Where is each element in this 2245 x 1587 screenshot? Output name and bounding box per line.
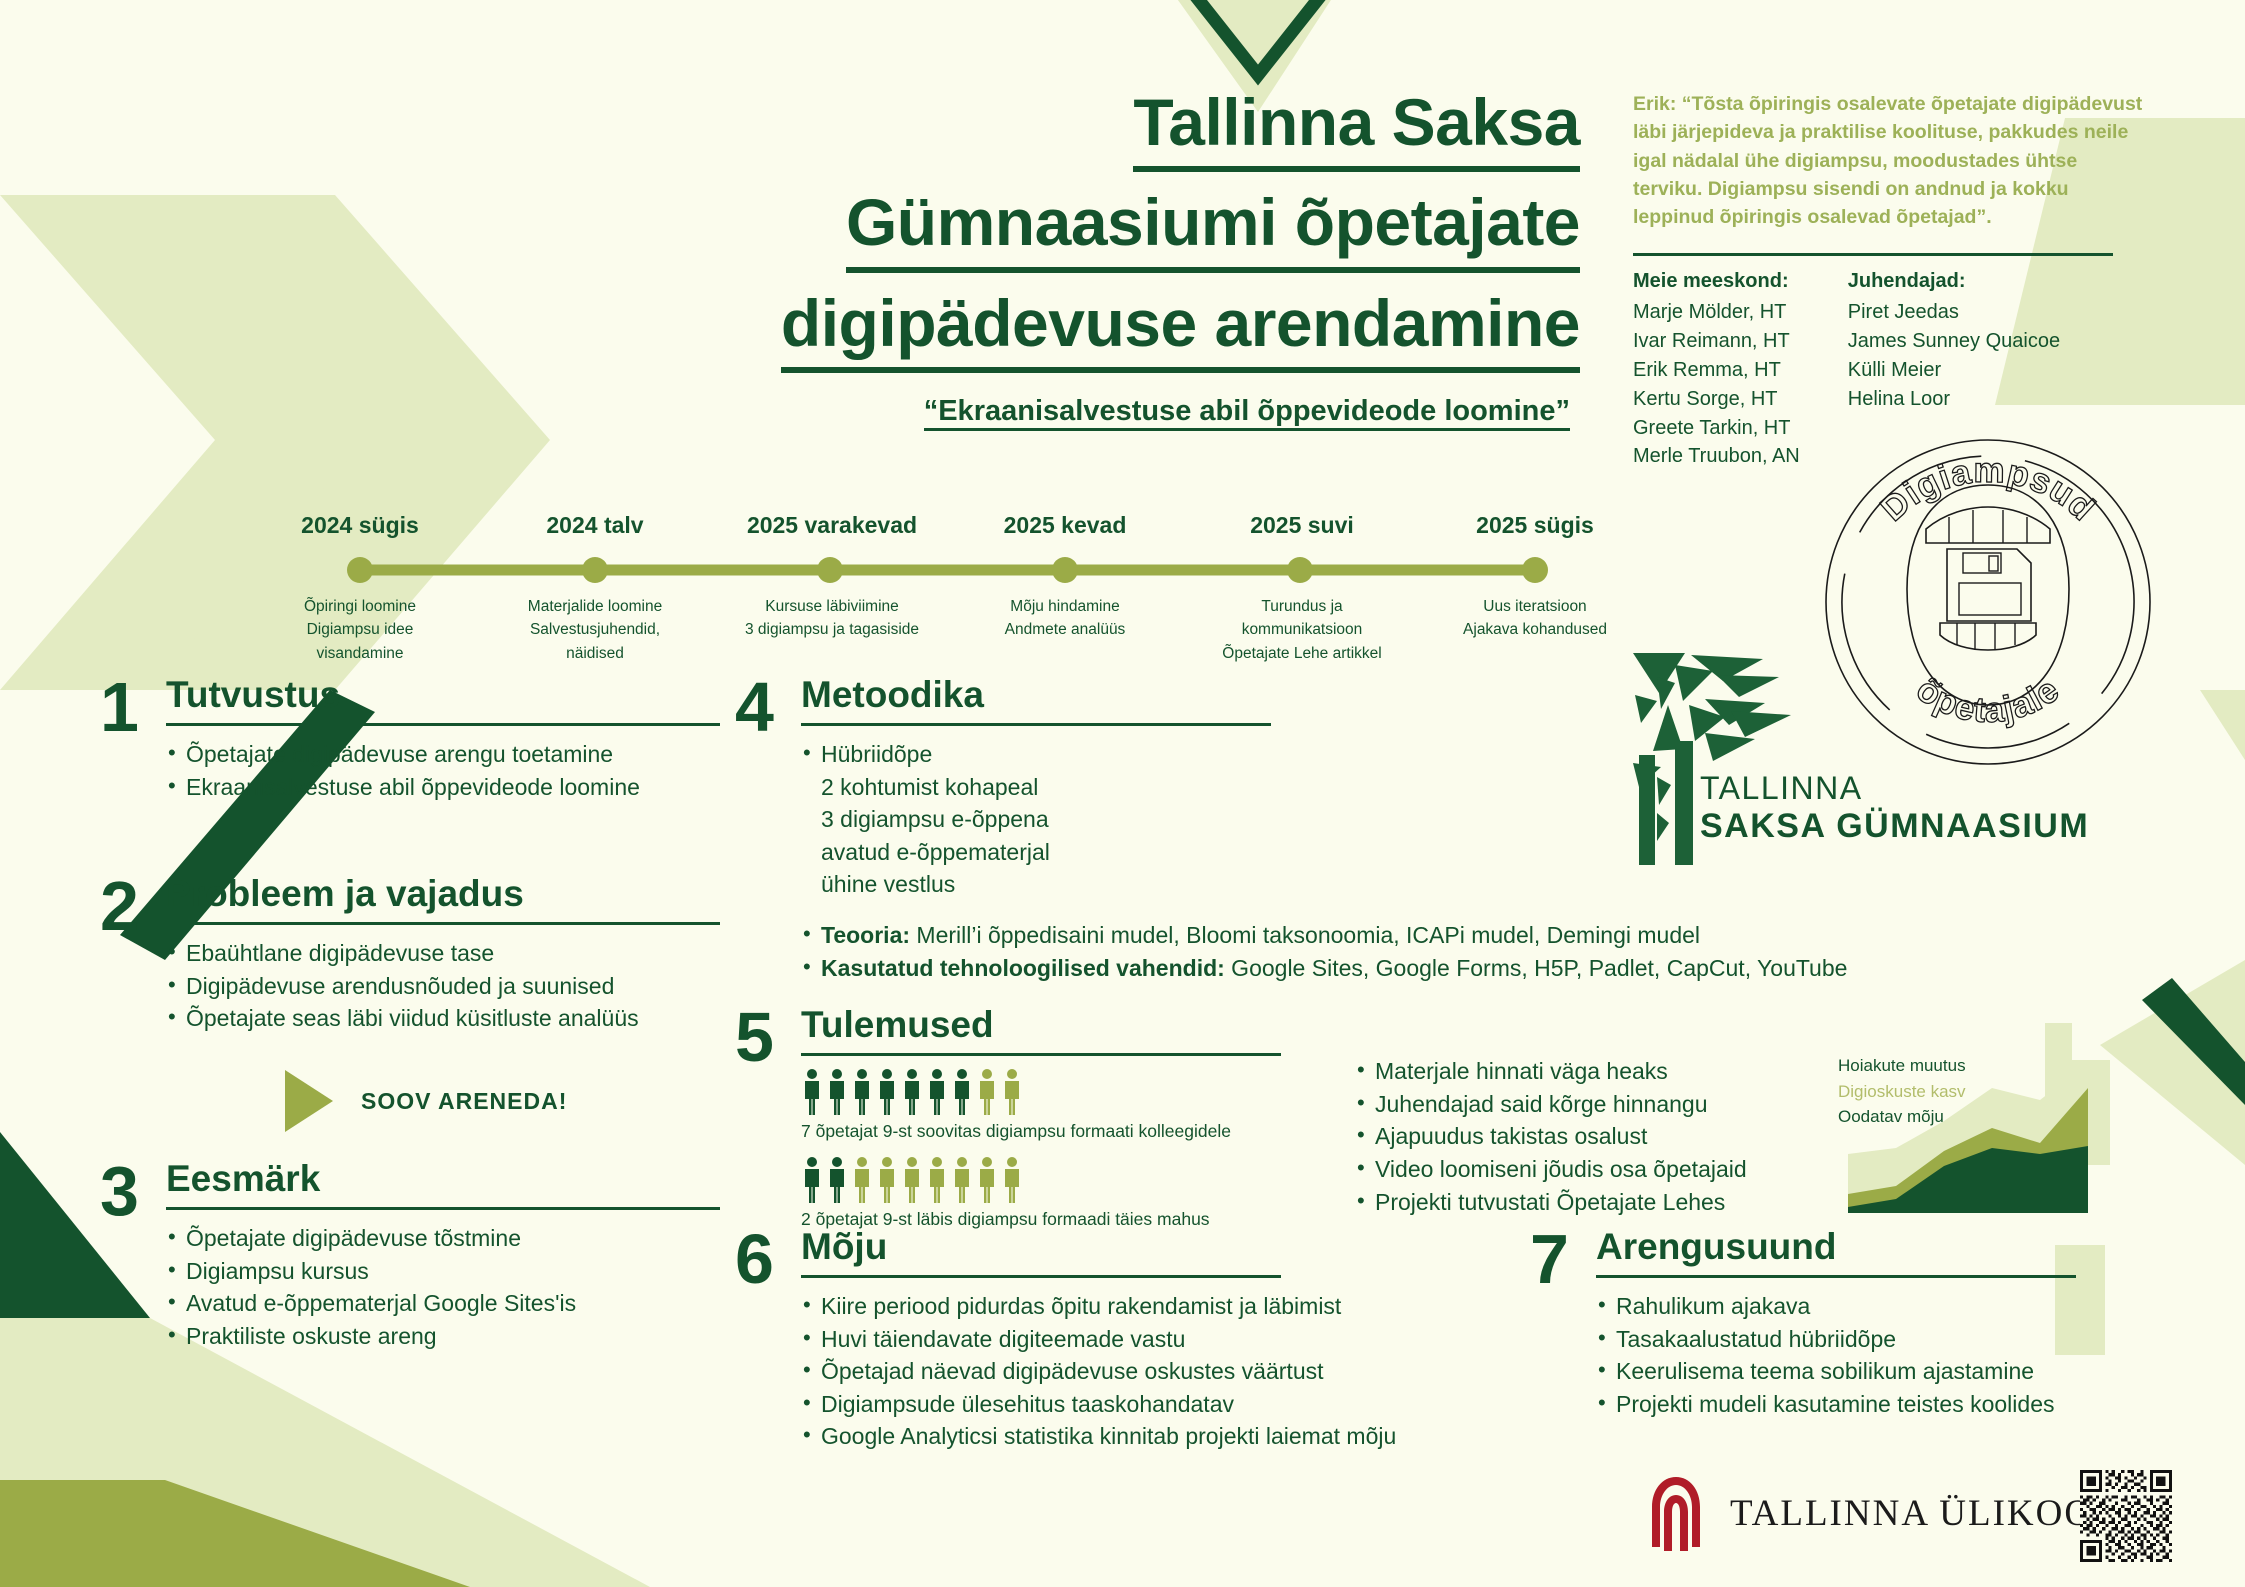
team-column: Meie meeskond: Marje Mölder, HT Ivar Rei…: [1633, 270, 1800, 471]
section-arengusuund: 7 Arengusuund Rahulikum ajakava Tasakaal…: [1530, 1228, 2090, 1420]
list-item: Projekti tutvustati Õpetajate Lehes: [1355, 1186, 1825, 1219]
team-divider: [1633, 253, 2113, 256]
list-item: Juhendajad said kõrge hinnangu: [1355, 1088, 1825, 1121]
timeline-period: 2025 sügis: [1430, 512, 1640, 539]
title-line-3: digipädevuse arendamine: [781, 281, 1580, 373]
timeline-stop: 2025 varakevad Kursuse läbiviimine 3 dig…: [718, 512, 946, 642]
supervisors-heading: Juhendajad:: [1848, 270, 2060, 293]
section-probleem-ja-vajadus: 2 Probleem ja vajadus Ebaühtlane digipäd…: [100, 875, 720, 1035]
list-item: Õpetajad näevad digipädevuse oskustes vä…: [801, 1355, 1435, 1388]
university-logo: TALLINNA ÜLIKOOL: [1648, 1475, 2118, 1551]
person-icon-empty: [976, 1156, 998, 1204]
supervisor-name: James Sunney Quaicoe: [1848, 327, 2060, 356]
team-heading: Meie meeskond:: [1633, 270, 1800, 293]
section-tulemused-bullets: Materjale hinnati väga heaks Juhendajad …: [1355, 1055, 1825, 1218]
list-item: Google Analyticsi statistika kinnitab pr…: [801, 1420, 1435, 1453]
section-divider: [166, 922, 720, 925]
badge-top-text: Digiampsud: [1873, 451, 2102, 529]
section-eesmark: 3 Eesmärk Õpetajate digipädevuse tõstmin…: [100, 1160, 720, 1352]
pictogram-row-completed: [801, 1156, 1375, 1204]
list-item: Digipädevuse arendusnõuded ja suunised: [166, 970, 720, 1003]
section-divider: [801, 1275, 1281, 1278]
page-subtitle: “Ekraanisalvestuse abil õppevideode loom…: [924, 395, 1570, 431]
timeline-period: 2025 suvi: [1188, 512, 1416, 539]
section-divider: [801, 1053, 1281, 1056]
list-item: Keerulisema teema sobilikum ajastamine: [1596, 1355, 2090, 1388]
title-line-1: Tallinna Saksa: [1133, 80, 1580, 172]
timeline-item: Õpiringi loomine: [255, 595, 465, 618]
section-title: Tutvustus: [166, 676, 720, 715]
timeline-item: näidised: [490, 642, 700, 665]
svg-text:Digiampsud: Digiampsud: [1873, 451, 2102, 529]
timeline-item: Materjalide loomine: [490, 595, 700, 618]
timeline-item: Turundus ja: [1188, 595, 1416, 618]
timeline-item: Ajakava kohandused: [1430, 618, 1640, 641]
project-goal-quote-block: Erik: “Tõsta õpiringis osalevate õpetaja…: [1633, 90, 2143, 471]
person-icon-empty: [1001, 1156, 1023, 1204]
list-item: Huvi täiendavate digiteemade vastu: [801, 1323, 1435, 1356]
tlu-arch-icon: [1648, 1475, 1704, 1551]
person-icon-empty: [951, 1156, 973, 1204]
bullet-list: Kiire periood pidurdas õpitu rakendamist…: [801, 1290, 1435, 1453]
tools-label: Kasutatud tehnoloogilised vahendid:: [821, 955, 1225, 981]
list-item: Tasakaalustatud hübriidõpe: [1596, 1323, 2090, 1356]
list-item: Materjale hinnati väga heaks: [1355, 1055, 1825, 1088]
section-title: Tulemused: [801, 1006, 1375, 1045]
timeline-item: Andmete analüüs: [960, 618, 1170, 641]
bullet-list: Õpetajate digipädevuse tõstmine Digiamps…: [166, 1222, 720, 1353]
person-icon-filled: [826, 1068, 848, 1116]
section-number: 7: [1530, 1228, 1596, 1291]
list-item: Video loomiseni jõudis osa õpetajaid: [1355, 1153, 1825, 1186]
team-member: Marje Mölder, HT: [1633, 298, 1800, 327]
section-number: 1: [100, 676, 166, 739]
poster-canvas: Tallinna Saksa Gümnaasiumi õpetajate dig…: [0, 0, 2245, 1587]
pictogram-caption: 7 õpetajat 9-st soovitas digiampsu forma…: [801, 1121, 1375, 1142]
person-icon-empty: [851, 1156, 873, 1204]
list-item: Projekti mudeli kasutamine teistes kooli…: [1596, 1388, 2090, 1421]
list-subitem: ühine vestlus: [801, 868, 1985, 901]
list-item: Rahulikum ajakava: [1596, 1290, 2090, 1323]
section-number: 2: [100, 875, 166, 938]
section-title: Arengusuund: [1596, 1228, 2090, 1267]
timeline-item: Kursuse läbiviimine: [718, 595, 946, 618]
supervisor-name: Piret Jeedas: [1848, 298, 2060, 327]
timeline-item: Mõju hindamine: [960, 595, 1170, 618]
bullet-list: Materjale hinnati väga heaks Juhendajad …: [1355, 1055, 1825, 1218]
section-divider: [1596, 1275, 2076, 1278]
person-icon-filled: [801, 1068, 823, 1116]
section-title: Mõju: [801, 1228, 1435, 1267]
timeline-period: 2024 sügis: [255, 512, 465, 539]
section-divider: [166, 1207, 720, 1210]
timeline-stop: 2024 talv Materjalide loomine Salvestusj…: [490, 512, 700, 665]
person-icon-empty: [876, 1156, 898, 1204]
person-icon-filled: [926, 1068, 948, 1116]
person-icon-empty: [1001, 1068, 1023, 1116]
team-member: Kertu Sorge, HT: [1633, 385, 1800, 414]
list-item: Õpetajate digipädevuse arengu toetamine: [166, 738, 720, 771]
pictogram-caption: 2 õpetajat 9-st läbis digiampsu formaadi…: [801, 1209, 1375, 1230]
timeline-period: 2025 kevad: [960, 512, 1170, 539]
theory-label: Teooria:: [821, 922, 910, 948]
list-item-theory: Teooria: Merill’i õppedisaini mudel, Blo…: [801, 919, 1985, 952]
pictogram-row-recommend: [801, 1068, 1375, 1116]
list-item: Digiampsu kursus: [166, 1255, 720, 1288]
list-item: Õpetajate seas läbi viidud küsitluste an…: [166, 1002, 720, 1035]
university-name: TALLINNA ÜLIKOOL: [1730, 1492, 2118, 1535]
list-item: Avatud e-õppematerjal Google Sites'is: [166, 1287, 720, 1320]
school-name: TALLINNA SAKSA GÜMNAASIUM: [1700, 770, 2089, 846]
play-triangle-icon: [285, 1070, 333, 1132]
person-icon-filled: [851, 1068, 873, 1116]
timeline-item: 3 digiampsu ja tagasiside: [718, 618, 946, 641]
section-tutvustus: 1 Tutvustus Õpetajate digipädevuse areng…: [100, 676, 720, 803]
timeline-period: 2024 talv: [490, 512, 700, 539]
section-title: Metoodika: [801, 676, 1985, 715]
timeline-item: Digiampsu idee: [255, 618, 465, 641]
list-item: Õpetajate digipädevuse tõstmine: [166, 1222, 720, 1255]
person-icon-empty: [976, 1068, 998, 1116]
area-chart: [1848, 1058, 2088, 1213]
supervisor-name: Helina Loor: [1848, 385, 2060, 414]
timeline-stop: 2025 suvi Turundus ja kommunikatsioon Õp…: [1188, 512, 1416, 665]
bullet-list-theory-tools: Teooria: Merill’i õppedisaini mudel, Blo…: [801, 919, 1985, 984]
callout-label: SOOV ARENEDA!: [361, 1088, 567, 1115]
callout-soov-areneda: SOOV ARENEDA!: [285, 1070, 567, 1132]
list-item-tools: Kasutatud tehnoloogilised vahendid: Goog…: [801, 952, 1985, 985]
timeline-item: Õpetajate Lehe artikkel: [1188, 642, 1416, 665]
timeline-item: Uus iteratsioon: [1430, 595, 1640, 618]
timeline-period: 2025 varakevad: [718, 512, 946, 539]
tools-value: Google Sites, Google Forms, H5P, Padlet,…: [1225, 955, 1848, 981]
list-item: Praktiliste oskuste areng: [166, 1320, 720, 1353]
section-title: Probleem ja vajadus: [166, 875, 720, 914]
person-icon-filled: [801, 1156, 823, 1204]
person-icon-filled: [876, 1068, 898, 1116]
list-item: Digiampsude ülesehitus taaskohandatav: [801, 1388, 1435, 1421]
section-divider: [166, 723, 720, 726]
team-member: Merle Truubon, AN: [1633, 442, 1800, 471]
section-number: 3: [100, 1160, 166, 1223]
list-item: Ekraanisalvestuse abil õppevideode loomi…: [166, 771, 720, 804]
page-title: Tallinna Saksa Gümnaasiumi õpetajate dig…: [360, 80, 1580, 431]
section-number: 4: [735, 676, 801, 739]
section-number: 6: [735, 1228, 801, 1291]
theory-value: Merill’i õppedisaini mudel, Bloomi takso…: [910, 922, 1700, 948]
timeline-item: kommunikatsioon: [1188, 618, 1416, 641]
team-member: Erik Remma, HT: [1633, 356, 1800, 385]
goal-quote-text: Erik: “Tõsta õpiringis osalevate õpetaja…: [1633, 90, 2143, 231]
timeline-stop: 2025 kevad Mõju hindamine Andmete analüü…: [960, 512, 1170, 642]
list-item: Kiire periood pidurdas õpitu rakendamist…: [801, 1290, 1435, 1323]
person-icon-empty: [901, 1156, 923, 1204]
person-icon-filled: [826, 1156, 848, 1204]
list-item: Ebaühtlane digipädevuse tase: [166, 937, 720, 970]
timeline-stop: 2024 sügis Õpiringi loomine Digiampsu id…: [255, 512, 465, 665]
school-name-line2: SAKSA GÜMNAASIUM: [1700, 807, 2089, 846]
bullet-list: Õpetajate digipädevuse arengu toetamine …: [166, 738, 720, 803]
person-icon-filled: [951, 1068, 973, 1116]
school-name-line1: TALLINNA: [1700, 770, 2089, 807]
person-icon-empty: [926, 1156, 948, 1204]
section-tulemused: 5 Tulemused 7 õpetajat 9-st soovitas dig…: [735, 1006, 1375, 1244]
bullet-list: Ebaühtlane digipädevuse tase Digipädevus…: [166, 937, 720, 1035]
timeline-item: Salvestusjuhendid,: [490, 618, 700, 641]
team-member: Greete Tarkin, HT: [1633, 414, 1800, 443]
section-moju: 6 Mõju Kiire periood pidurdas õpitu rake…: [735, 1228, 1435, 1453]
title-line-2: Gümnaasiumi õpetajate: [846, 180, 1580, 272]
section-number: 5: [735, 1006, 801, 1069]
supervisor-name: Külli Meier: [1848, 356, 2060, 385]
list-item: Hübriidõpe: [801, 738, 1985, 771]
project-timeline: 2024 sügis Õpiringi loomine Digiampsu id…: [290, 512, 1600, 662]
list-item: Ajapuudus takistas osalust: [1355, 1120, 1825, 1153]
section-title: Eesmärk: [166, 1160, 720, 1199]
timeline-stop: 2025 sügis Uus iteratsioon Ajakava kohan…: [1430, 512, 1640, 642]
team-member: Ivar Reimann, HT: [1633, 327, 1800, 356]
section-divider: [801, 723, 1271, 726]
bullet-list: Rahulikum ajakava Tasakaalustatud hübrii…: [1596, 1290, 2090, 1421]
qr-code[interactable]: [2080, 1470, 2172, 1562]
person-icon-filled: [901, 1068, 923, 1116]
timeline-item: visandamine: [255, 642, 465, 665]
